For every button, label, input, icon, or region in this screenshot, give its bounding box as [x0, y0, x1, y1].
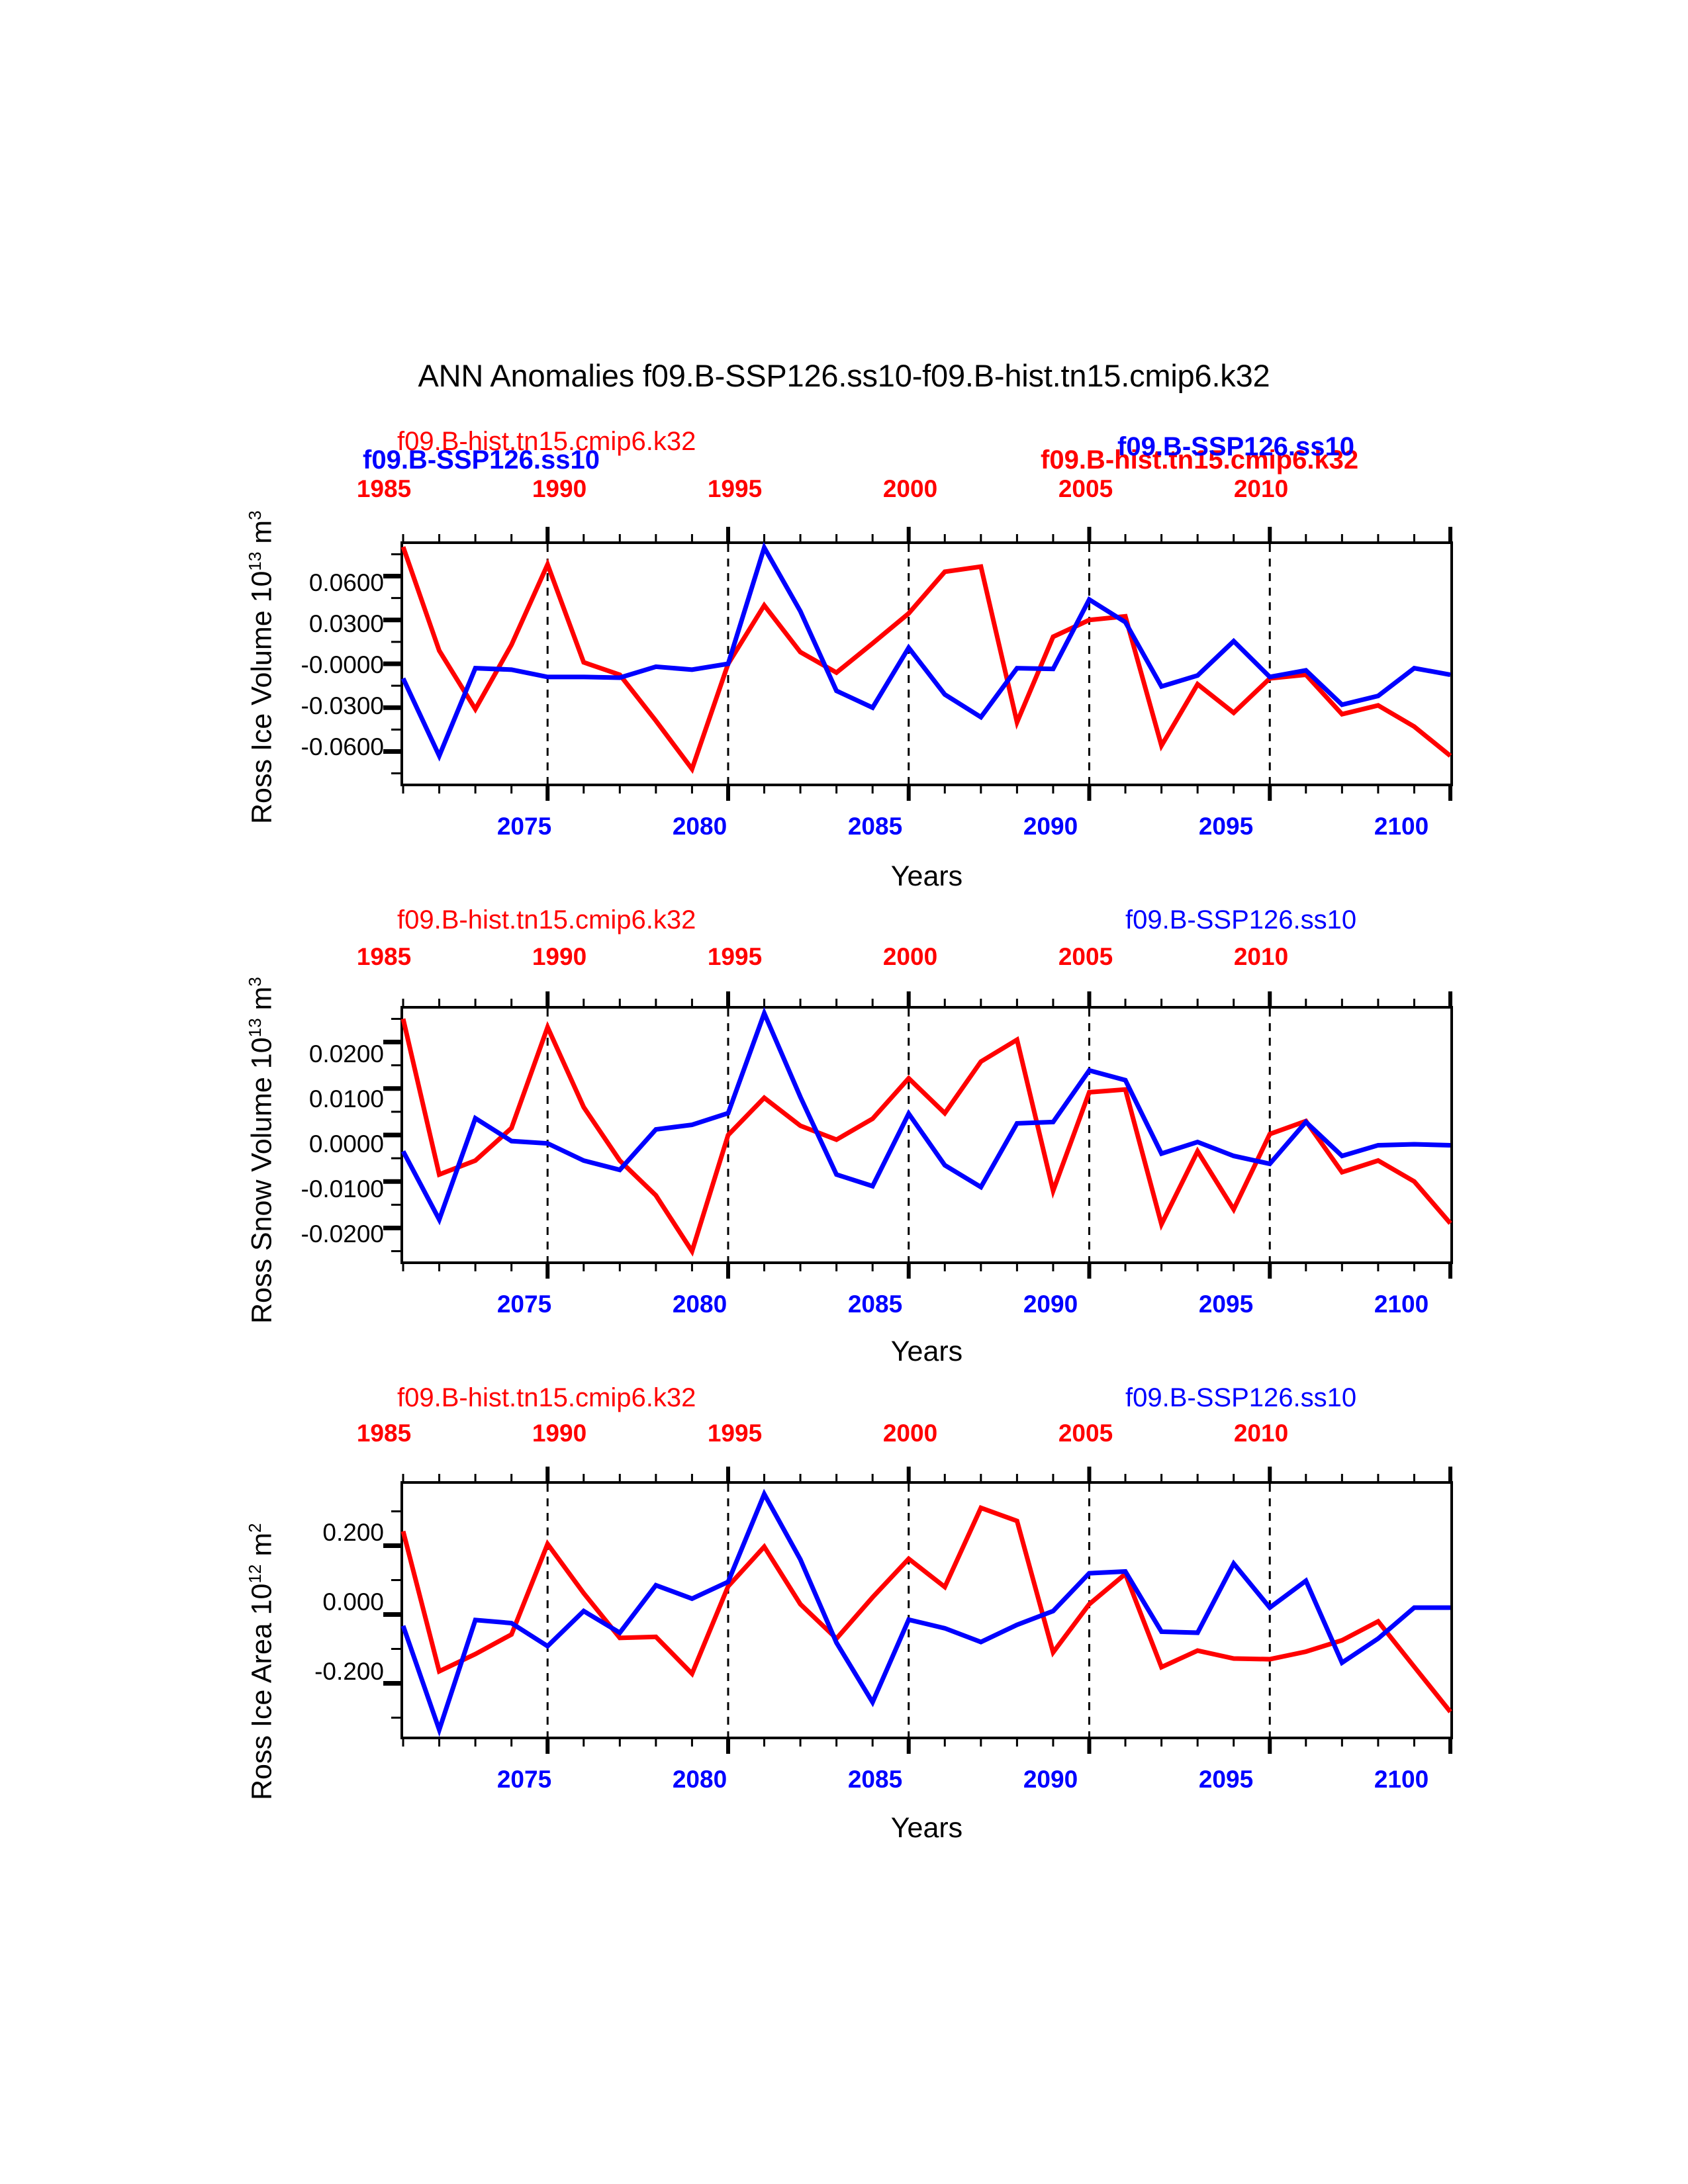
ylabel-unit-p2: m	[246, 987, 277, 1011]
legend-blue-left-p1: f09.B-SSP126.ss10	[363, 445, 600, 475]
figure-canvas: ANN Anomalies f09.B-SSP126.ss10-f09.B-hi…	[0, 0, 1688, 2184]
ylabel-unit-p1: m	[246, 520, 277, 544]
ylabel-exp-p2: 13	[245, 1018, 265, 1037]
bottom-tick-2095-p1: 2095	[1160, 813, 1292, 841]
legend-blue-right-p3: f09.B-SSP126.ss10	[1125, 1383, 1356, 1413]
xlabel-p3: Years	[794, 1812, 1059, 1844]
top-tick-2005-p2: 2005	[1019, 943, 1152, 971]
top-tick-1990-p1: 1990	[493, 475, 626, 503]
top-tick-1990-p3: 1990	[493, 1420, 626, 1447]
bottom-tick-2100-p1: 2100	[1335, 813, 1468, 841]
bottom-tick-2100-p2: 2100	[1335, 1291, 1468, 1318]
bottom-tick-2090-p2: 2090	[984, 1291, 1117, 1318]
top-tick-2005-p1: 2005	[1019, 475, 1152, 503]
ytick-p1-1: 0.0300	[218, 610, 384, 638]
top-tick-2010-p2: 2010	[1195, 943, 1327, 971]
ytick-p2-1: 0.0100	[218, 1085, 384, 1113]
top-tick-1995-p1: 1995	[669, 475, 801, 503]
top-tick-1995-p2: 1995	[669, 943, 801, 971]
bottom-tick-2080-p3: 2080	[633, 1766, 766, 1794]
top-tick-1985-p2: 1985	[318, 943, 450, 971]
ytick-p3-1: 0.000	[218, 1588, 384, 1616]
top-tick-1985-p1: 1985	[318, 475, 450, 503]
ytick-p3-0: 0.200	[218, 1519, 384, 1547]
top-tick-1995-p3: 1995	[669, 1420, 801, 1447]
ytick-p1-0: 0.0600	[218, 569, 384, 597]
top-tick-2000-p3: 2000	[844, 1420, 976, 1447]
bottom-tick-2095-p2: 2095	[1160, 1291, 1292, 1318]
bottom-tick-2075-p3: 2075	[458, 1766, 590, 1794]
plot-svg-p3	[403, 1484, 1450, 1737]
bottom-tick-2085-p2: 2085	[809, 1291, 941, 1318]
ytick-p2-4: -0.0200	[218, 1220, 384, 1248]
plot-area-p1[interactable]	[400, 541, 1453, 786]
ytick-p3-2: -0.200	[218, 1658, 384, 1686]
ytick-p1-3: -0.0300	[218, 692, 384, 720]
ytick-p1-4: -0.0600	[218, 733, 384, 761]
ylabel-unit-exp-p2: 3	[245, 977, 265, 986]
bottom-tick-2085-p3: 2085	[809, 1766, 941, 1794]
bottom-tick-2085-p1: 2085	[809, 813, 941, 841]
ytick-p1-2: -0.0000	[218, 651, 384, 679]
top-tick-1990-p2: 1990	[493, 943, 626, 971]
bottom-tick-2080-p2: 2080	[633, 1291, 766, 1318]
legend-red-left-p2: f09.B-hist.tn15.cmip6.k32	[397, 905, 696, 935]
bottom-tick-2090-p1: 2090	[984, 813, 1117, 841]
bottom-tick-2095-p3: 2095	[1160, 1766, 1292, 1794]
top-tick-2010-p1: 2010	[1195, 475, 1327, 503]
bottom-tick-2100-p3: 2100	[1335, 1766, 1468, 1794]
plot-area-p3[interactable]	[400, 1481, 1453, 1739]
legend-blue-right-p1: f09.B-SSP126.ss10	[1117, 432, 1354, 462]
top-tick-2000-p1: 2000	[844, 475, 976, 503]
xlabel-p1: Years	[794, 860, 1059, 893]
plot-svg-p2	[403, 1009, 1450, 1261]
ylabel-exp-p1: 13	[245, 552, 265, 571]
top-tick-2010-p3: 2010	[1195, 1420, 1327, 1447]
top-tick-1985-p3: 1985	[318, 1420, 450, 1447]
ytick-p2-0: 0.0200	[218, 1040, 384, 1068]
bottom-tick-2075-p2: 2075	[458, 1291, 590, 1318]
legend-red-left-p3: f09.B-hist.tn15.cmip6.k32	[397, 1383, 696, 1413]
plot-area-p2[interactable]	[400, 1006, 1453, 1264]
legend-blue-right-p2: f09.B-SSP126.ss10	[1125, 905, 1356, 935]
bottom-tick-2080-p1: 2080	[633, 813, 766, 841]
top-tick-2005-p3: 2005	[1019, 1420, 1152, 1447]
top-tick-2000-p2: 2000	[844, 943, 976, 971]
ylabel-exp-p3: 12	[245, 1565, 265, 1584]
figure-title: ANN Anomalies f09.B-SSP126.ss10-f09.B-hi…	[0, 357, 1688, 394]
ytick-p2-2: 0.0000	[218, 1130, 384, 1158]
bottom-tick-2090-p3: 2090	[984, 1766, 1117, 1794]
ylabel-unit-exp-p1: 3	[245, 510, 265, 520]
bottom-tick-2075-p1: 2075	[458, 813, 590, 841]
ytick-p2-3: -0.0100	[218, 1175, 384, 1203]
xlabel-p2: Years	[794, 1336, 1059, 1368]
plot-svg-p1	[403, 544, 1450, 784]
